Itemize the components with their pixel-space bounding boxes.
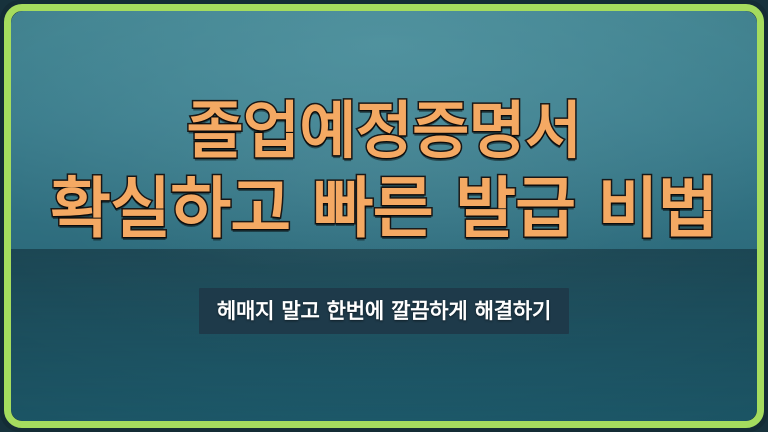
thumbnail-canvas: 졸업예정증명서 확실하고 빠른 발급 비법 헤매지 말고 한번에 깔끔하게 해결…	[0, 0, 768, 432]
gradient-stage	[11, 11, 757, 421]
